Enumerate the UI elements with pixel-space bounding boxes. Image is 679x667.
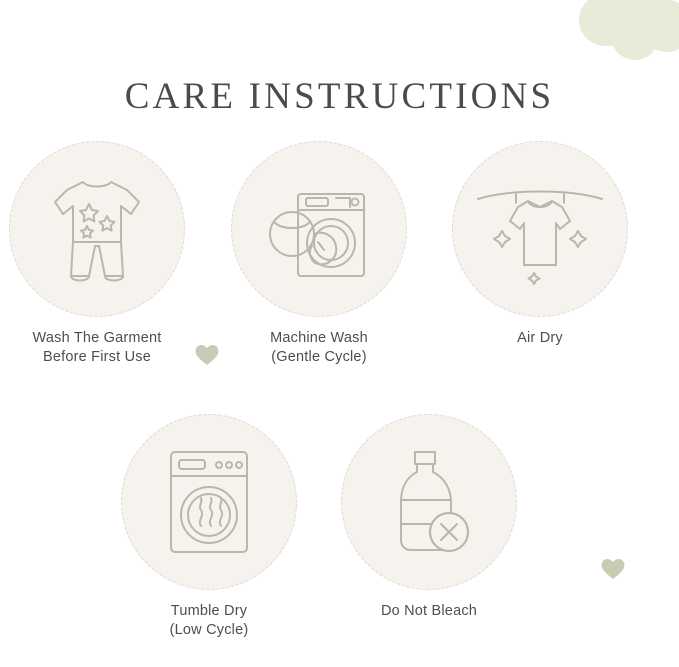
caption-line-1: Tumble Dry bbox=[121, 602, 297, 621]
icon-bubble bbox=[341, 414, 517, 590]
care-item-caption: Do Not Bleach bbox=[341, 602, 517, 621]
page-title: CARE INSTRUCTIONS bbox=[0, 75, 679, 118]
care-item-caption: Air Dry bbox=[452, 329, 628, 348]
caption-line-2: (Gentle Cycle) bbox=[231, 348, 407, 367]
heart-icon bbox=[600, 557, 626, 581]
caption-line-1: Machine Wash bbox=[231, 329, 407, 348]
icon-bubble bbox=[121, 414, 297, 590]
caption-line-2: Before First Use bbox=[9, 348, 185, 367]
washing-machine-laundry-icon bbox=[254, 164, 384, 294]
care-item-air-dry: Air Dry bbox=[452, 141, 628, 348]
tumble-dryer-icon bbox=[149, 440, 269, 565]
icon-bubble bbox=[231, 141, 407, 317]
baby-garment-icon bbox=[37, 164, 157, 294]
icon-bubble bbox=[9, 141, 185, 317]
care-item-caption: Wash The Garment Before First Use bbox=[9, 329, 185, 367]
caption-line-2: (Low Cycle) bbox=[121, 621, 297, 640]
care-item-machine-wash: Machine Wash (Gentle Cycle) bbox=[231, 141, 407, 367]
heart-icon bbox=[194, 343, 220, 367]
icon-bubble bbox=[452, 141, 628, 317]
care-item-do-not-bleach: Do Not Bleach bbox=[341, 414, 517, 621]
cloud-shape-icon bbox=[575, 0, 679, 64]
caption-line-1: Wash The Garment bbox=[9, 329, 185, 348]
clothesline-tshirt-icon bbox=[470, 169, 610, 289]
caption-line-1: Air Dry bbox=[452, 329, 628, 348]
care-item-wash-garment: Wash The Garment Before First Use bbox=[9, 141, 185, 367]
caption-line-1: Do Not Bleach bbox=[341, 602, 517, 621]
care-item-caption: Machine Wash (Gentle Cycle) bbox=[231, 329, 407, 367]
care-item-caption: Tumble Dry (Low Cycle) bbox=[121, 602, 297, 640]
care-instructions-page: CARE INSTRUCTIONS bbox=[0, 0, 679, 667]
no-bleach-bottle-icon bbox=[369, 440, 489, 565]
care-item-tumble-dry: Tumble Dry (Low Cycle) bbox=[121, 414, 297, 640]
